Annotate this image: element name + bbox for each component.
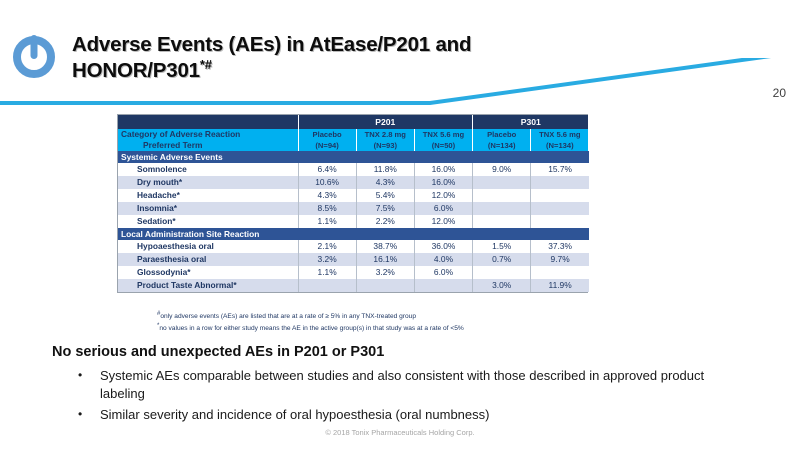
table-row-label: Paraesthesia oral (118, 253, 298, 266)
table-cell: 16.0% (414, 163, 472, 176)
table-row: Insomnia*8.5%7.5%6.0% (118, 202, 589, 215)
col-header-p201-placebo: Placebo (N=94) (298, 129, 356, 151)
table-body: Systemic Adverse EventsSomnolence6.4%11.… (118, 151, 589, 292)
row-label-header: Category of Adverse Reaction Preferred T… (118, 129, 298, 151)
table-row-label: Product Taste Abnormal* (118, 279, 298, 292)
footnote-2: *no values in a row for either study mea… (157, 322, 677, 334)
col-header-p201-tnx56: TNX 5.6 mg (N=50) (414, 129, 472, 151)
table-row: Product Taste Abnormal*3.0%11.9% (118, 279, 589, 292)
table-cell (473, 189, 531, 202)
list-item: • Systemic AEs comparable between studie… (78, 367, 728, 404)
table-section-row: Systemic Adverse Events (118, 151, 589, 163)
conclusion-heading: No serious and unexpected AEs in P201 or… (52, 344, 384, 360)
col-header-p201-tnx56-n: (N=50) (417, 140, 470, 151)
table-cell: 7.5% (356, 202, 414, 215)
table-cell: 38.7% (356, 240, 414, 253)
table-section-title: Local Administration Site Reaction (118, 228, 589, 240)
study-band-blank (118, 115, 298, 129)
table-cell (531, 266, 589, 279)
col-header-p301-tnx56-n: (N=134) (533, 140, 586, 151)
table-cell: 15.7% (531, 163, 589, 176)
table-row: Glossodynia*1.1%3.2%6.0% (118, 266, 589, 279)
col-header-p301-placebo-n: (N=134) (475, 140, 528, 151)
table-cell (531, 189, 589, 202)
table-cell: 6.0% (414, 202, 472, 215)
col-header-p301-tnx56-name: TNX 5.6 mg (533, 129, 586, 140)
table-row-label: Hypoaesthesia oral (118, 240, 298, 253)
bullet-marker-icon: • (78, 367, 100, 384)
col-header-p301-placebo-name: Placebo (475, 129, 528, 140)
row-label-header-line-1: Category of Adverse Reaction (121, 129, 296, 140)
bullet-list: • Systemic AEs comparable between studie… (78, 367, 728, 426)
copyright-notice: © 2018 Tonix Pharmaceuticals Holding Cor… (0, 428, 800, 437)
table-cell: 4.3% (298, 189, 356, 202)
bullet-marker-icon: • (78, 406, 100, 423)
col-header-p301-tnx56: TNX 5.6 mg (N=134) (531, 129, 589, 151)
table-cell: 3.2% (356, 266, 414, 279)
table-cell: 8.5% (298, 202, 356, 215)
table-cell: 0.7% (473, 253, 531, 266)
table-section-row: Local Administration Site Reaction (118, 228, 589, 240)
table-row-label: Dry mouth* (118, 176, 298, 189)
list-item: • Similar severity and incidence of oral… (78, 406, 728, 424)
table-cell (473, 176, 531, 189)
table-cell: 4.3% (356, 176, 414, 189)
table-cell (473, 266, 531, 279)
adverse-events-table: P201 P301 Category of Adverse Reaction P… (117, 114, 588, 293)
table-row: Headache*4.3%5.4%12.0% (118, 189, 589, 202)
table-section-title: Systemic Adverse Events (118, 151, 589, 163)
table-footnotes: #only adverse events (AEs) are listed th… (157, 310, 677, 333)
table-cell: 3.0% (473, 279, 531, 292)
table-cell: 12.0% (414, 189, 472, 202)
table-cell: 3.2% (298, 253, 356, 266)
table-cell: 6.4% (298, 163, 356, 176)
footnote-2-text: no values in a row for either study mean… (159, 325, 463, 332)
table-cell (473, 202, 531, 215)
col-header-p201-placebo-n: (N=94) (301, 140, 354, 151)
table-cell (531, 215, 589, 228)
table-cell: 9.7% (531, 253, 589, 266)
table-cell: 16.0% (414, 176, 472, 189)
table-row-label: Glossodynia* (118, 266, 298, 279)
table-row-label: Somnolence (118, 163, 298, 176)
col-header-p201-tnx56-name: TNX 5.6 mg (417, 129, 470, 140)
table-cell: 12.0% (414, 215, 472, 228)
col-header-p201-tnx28: TNX 2.8 mg (N=93) (356, 129, 414, 151)
table-cell: 1.1% (298, 215, 356, 228)
table-study-band: P201 P301 (118, 115, 589, 129)
row-label-header-line-2: Preferred Term (121, 140, 296, 151)
table-cell (531, 176, 589, 189)
col-header-p301-placebo: Placebo (N=134) (473, 129, 531, 151)
col-header-p201-tnx28-n: (N=93) (359, 140, 412, 151)
table-row-label: Insomnia* (118, 202, 298, 215)
study-band-p201: P201 (298, 115, 473, 129)
table-cell: 16.1% (356, 253, 414, 266)
table-row-label: Headache* (118, 189, 298, 202)
table-cell (414, 279, 472, 292)
table-cell: 2.2% (356, 215, 414, 228)
col-header-p201-tnx28-name: TNX 2.8 mg (359, 129, 412, 140)
table-column-headers: Category of Adverse Reaction Preferred T… (118, 129, 589, 151)
page-title-line-1: Adverse Events (AEs) in AtEase/P201 and (72, 33, 471, 56)
list-item-text: Systemic AEs comparable between studies … (100, 367, 728, 404)
table-cell: 11.8% (356, 163, 414, 176)
table-cell (531, 202, 589, 215)
table-cell: 1.5% (473, 240, 531, 253)
table-cell: 2.1% (298, 240, 356, 253)
table-row: Dry mouth*10.6%4.3%16.0% (118, 176, 589, 189)
table-cell (298, 279, 356, 292)
list-item-text: Similar severity and incidence of oral h… (100, 406, 728, 424)
study-band-p301: P301 (473, 115, 589, 129)
table-cell: 37.3% (531, 240, 589, 253)
table-row: Paraesthesia oral3.2%16.1%4.0%0.7%9.7% (118, 253, 589, 266)
table-row-label: Sedation* (118, 215, 298, 228)
table-cell: 5.4% (356, 189, 414, 202)
accent-swoosh (0, 58, 800, 108)
table-cell: 36.0% (414, 240, 472, 253)
col-header-p201-placebo-name: Placebo (301, 129, 354, 140)
table-cell: 1.1% (298, 266, 356, 279)
footnote-1-text: only adverse events (AEs) are listed tha… (160, 313, 416, 320)
page-number: 20 (773, 86, 786, 100)
table-row: Hypoaesthesia oral2.1%38.7%36.0%1.5%37.3… (118, 240, 589, 253)
table-cell: 10.6% (298, 176, 356, 189)
table-cell: 9.0% (473, 163, 531, 176)
table-cell (356, 279, 414, 292)
table-row: Somnolence6.4%11.8%16.0%9.0%15.7% (118, 163, 589, 176)
table-cell (473, 215, 531, 228)
footnote-1: #only adverse events (AEs) are listed th… (157, 310, 677, 322)
table-cell: 4.0% (414, 253, 472, 266)
table-cell: 6.0% (414, 266, 472, 279)
table-row: Sedation*1.1%2.2%12.0% (118, 215, 589, 228)
table-cell: 11.9% (531, 279, 589, 292)
